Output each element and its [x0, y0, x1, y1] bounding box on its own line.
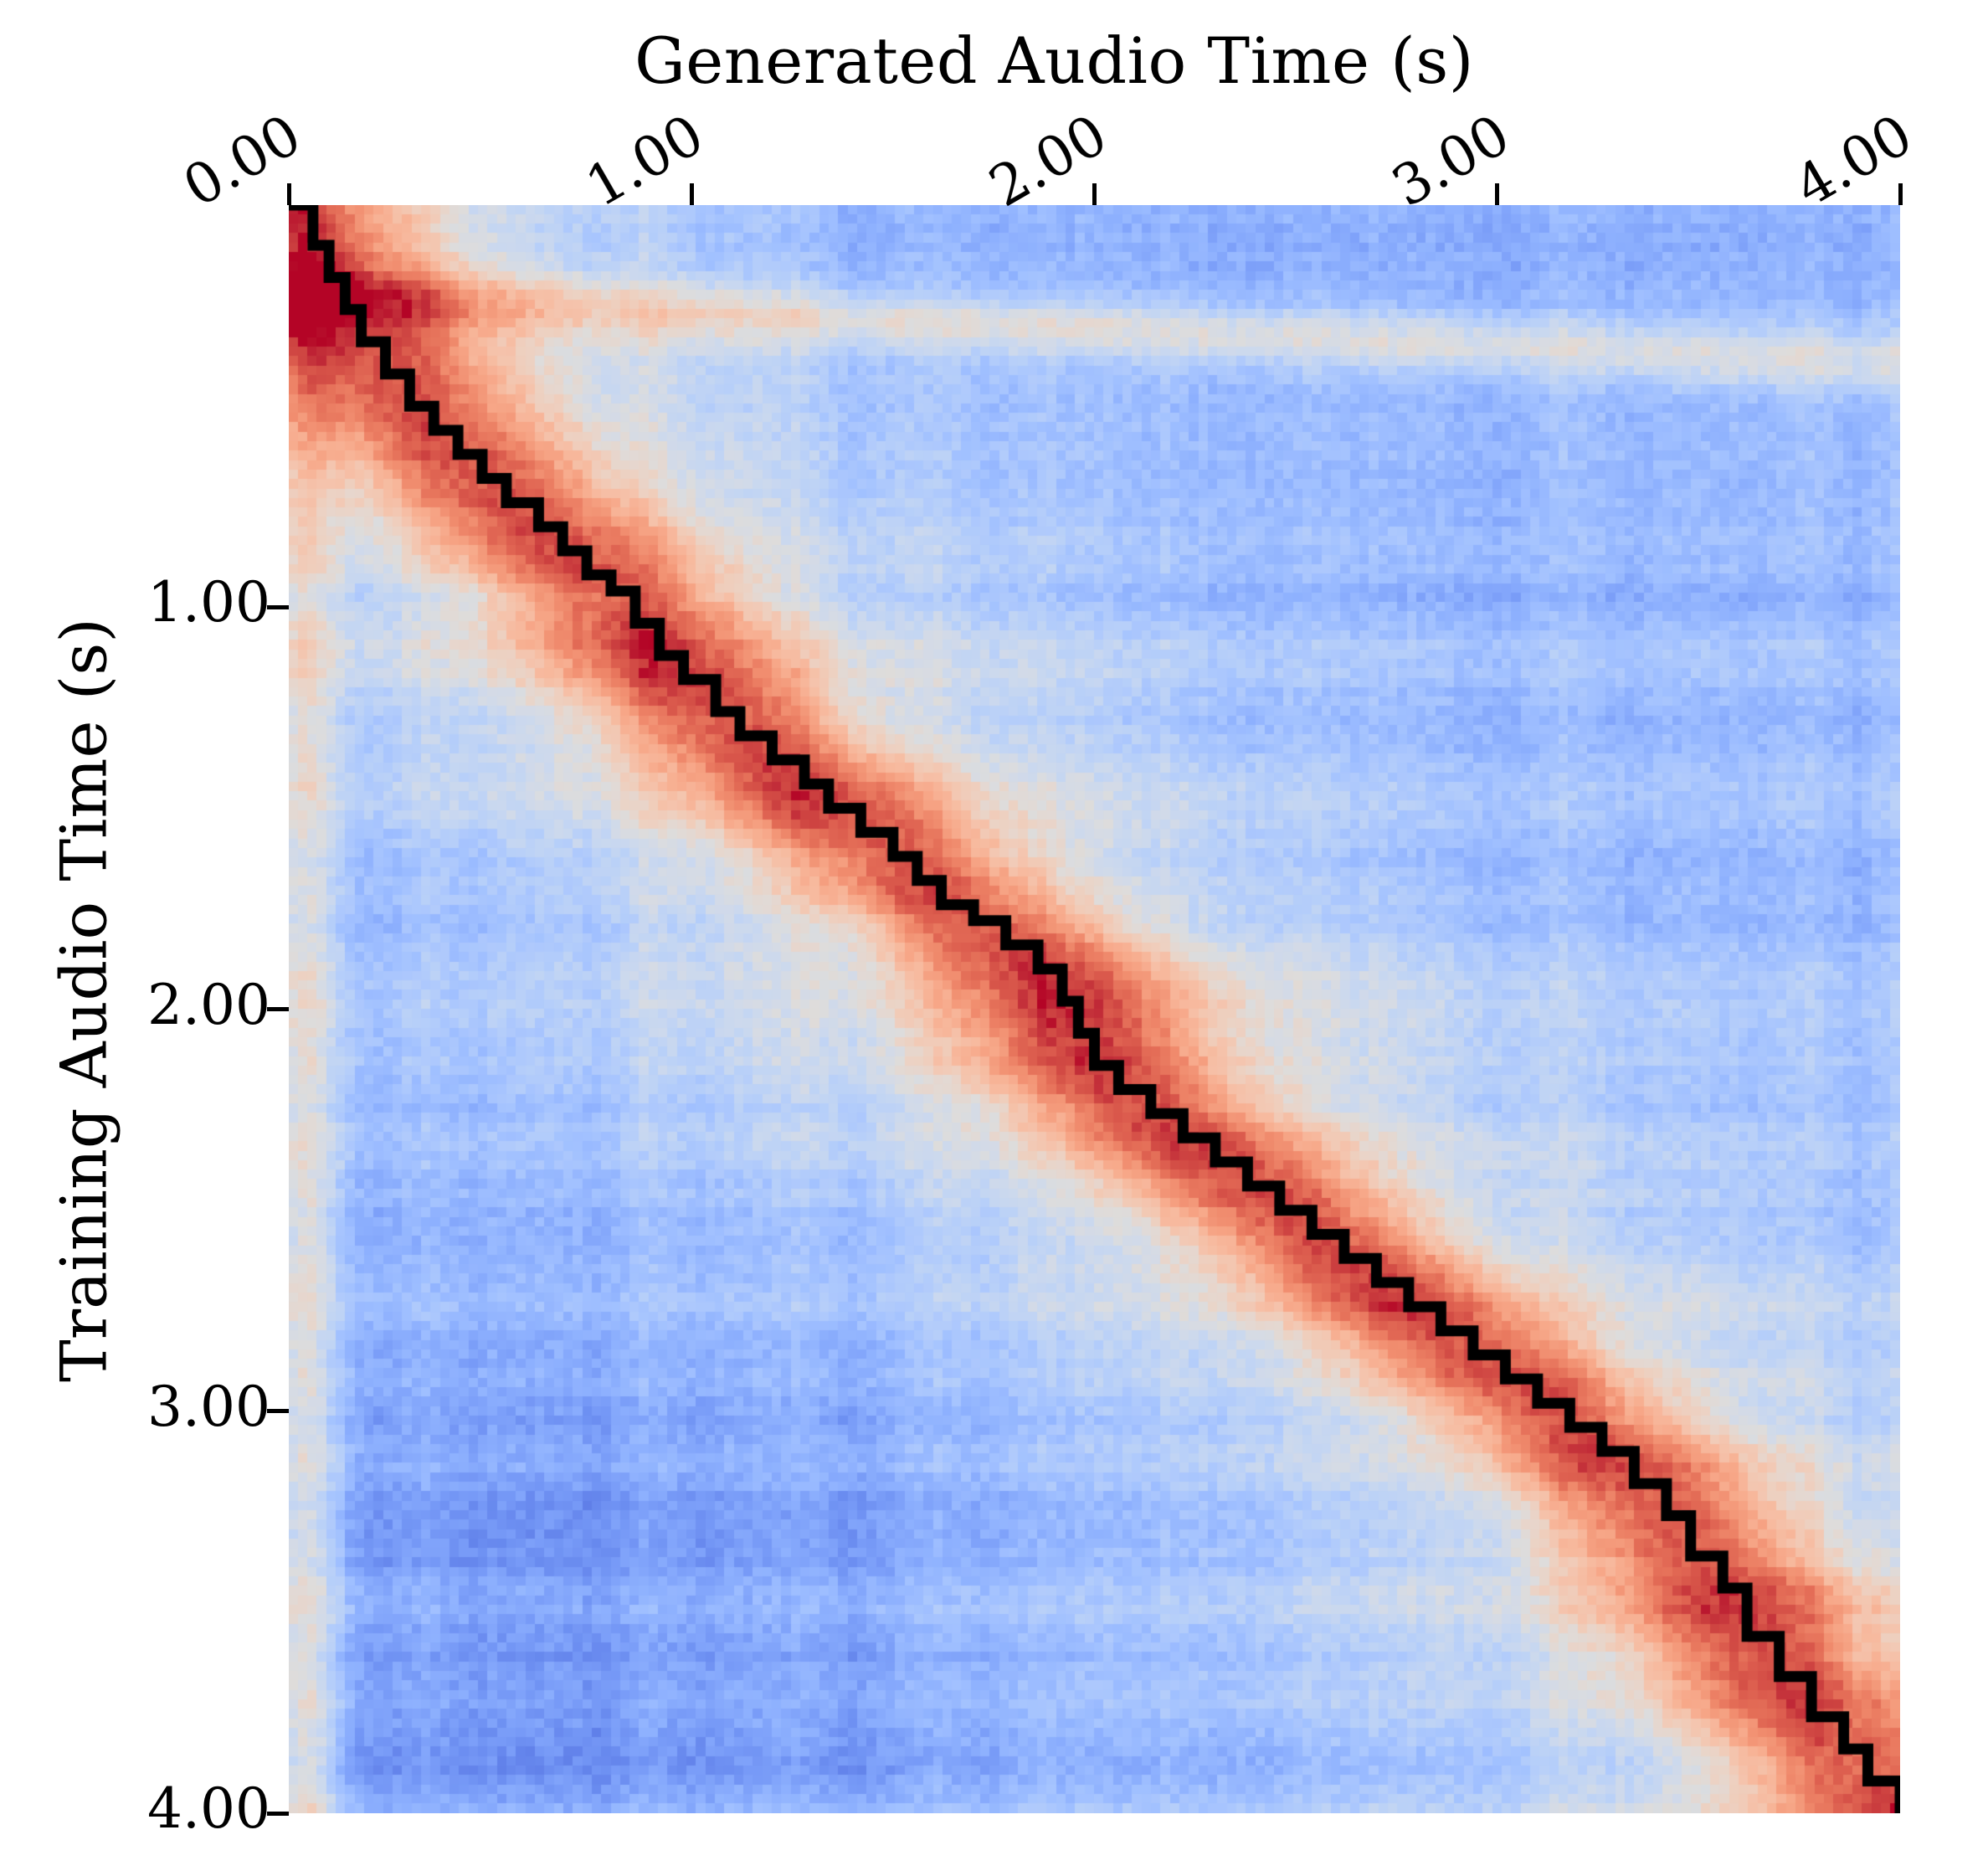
x-tick-mark: [690, 183, 694, 205]
x-tick-mark: [1495, 183, 1499, 205]
x-tick-mark: [1092, 183, 1097, 205]
dtw-warping-path: [289, 205, 1900, 1813]
y-tick-label: 2.00: [147, 973, 270, 1037]
chart-title-text: Generated Audio Time (s): [634, 23, 1474, 98]
x-tick-mark: [287, 183, 291, 205]
y-axis-label: Training Audio Time (s): [47, 247, 121, 1754]
y-tick-label: 3.00: [147, 1375, 270, 1439]
x-tick-mark: [1898, 183, 1903, 205]
chart-title: Generated Audio Time (s): [0, 23, 1988, 98]
figure-root: Generated Audio Time (s) Training Audio …: [0, 0, 1988, 1871]
plot-area: [289, 205, 1900, 1813]
y-tick-label: 1.00: [147, 570, 270, 635]
y-tick-label: 4.00: [147, 1776, 270, 1841]
